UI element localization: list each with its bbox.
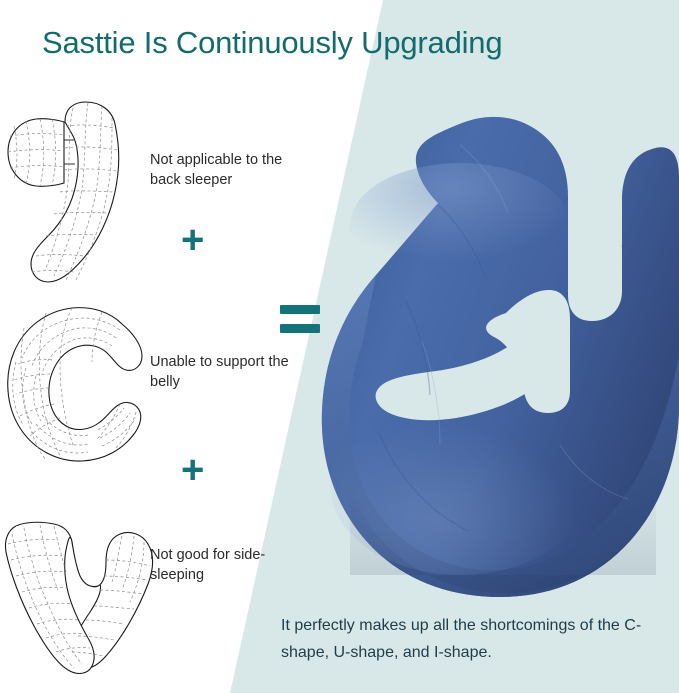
- u-shape-pillow-outline: [2, 520, 162, 685]
- plus-icon-1: +: [181, 220, 204, 260]
- note-u-shape: Not good for side-sleeping: [150, 545, 310, 585]
- note-c-shape: Unable to support the belly: [150, 352, 310, 392]
- page-title: Sasttie Is Continuously Upgrading: [42, 25, 642, 61]
- plus-icon-2: +: [181, 450, 204, 490]
- product-infographic: Sasttie Is Continuously Upgrading: [0, 0, 679, 693]
- c-shape-pillow-outline: [2, 300, 152, 465]
- j-shape-pillow-outline: [2, 96, 154, 294]
- note-j-shape: Not applicable to the back sleeper: [150, 150, 310, 190]
- blue-pregnancy-pillow: [310, 105, 679, 605]
- result-caption: It perfectly makes up all the shortcomin…: [281, 612, 671, 666]
